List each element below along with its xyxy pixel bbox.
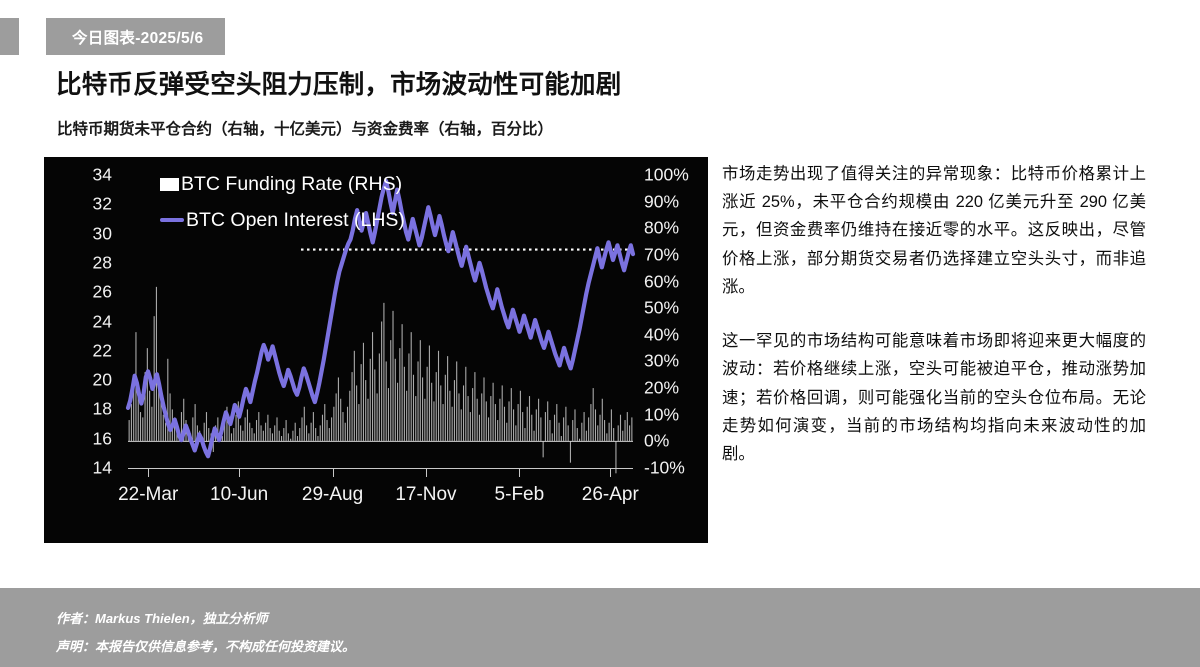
y-tick-left-10: 14 [93,459,112,477]
x-tick-label-1: 10-Jun [210,484,268,506]
legend-label-funding-rate: BTC Funding Rate (RHS) [181,173,402,196]
y-tick-left-0: 34 [93,166,112,184]
y-axis-left: 3432302826242220181614 [52,157,116,543]
footer-disclaimer: 声明：本报告仅供信息参考，不构成任何投资建议。 [56,636,355,655]
y-tick-right-3: 70% [644,246,679,264]
y-tick-right-8: 20% [644,379,679,397]
y-tick-left-4: 26 [93,283,112,301]
x-tick-label-3: 17-Nov [395,484,456,506]
x-tick-label-5: 26-Apr [582,484,639,506]
y-tick-right-5: 50% [644,299,679,317]
footer-band: 作者：Markus Thielen，独立分析师 声明：本报告仅供信息参考，不构成… [0,588,1200,667]
x-tick-mark-2 [333,468,334,477]
legend-item-funding-rate: BTC Funding Rate (RHS) [160,169,405,199]
legend-item-open-interest: BTC Open Interest (LHS) [160,205,405,235]
y-tick-left-2: 30 [93,225,112,243]
chart-panel: 3432302826242220181614 100%90%80%70%60%5… [44,157,708,543]
legend-label-open-interest: BTC Open Interest (LHS) [186,209,405,232]
x-tick-mark-5 [610,468,611,477]
bar-swatch-icon [160,178,179,191]
footer-author: 作者：Markus Thielen，独立分析师 [56,608,268,627]
y-tick-left-3: 28 [93,254,112,272]
line-swatch-icon [160,218,184,222]
x-axis: 22-Mar10-Jun29-Aug17-Nov5-Feb26-Apr [128,468,633,538]
y-tick-left-7: 20 [93,371,112,389]
y-tick-right-6: 40% [644,326,679,344]
left-accent-bar [0,18,19,55]
y-tick-right-9: 10% [644,406,679,424]
x-tick-label-2: 29-Aug [302,484,363,506]
x-axis-line [128,468,633,469]
x-tick-mark-4 [519,468,520,477]
x-tick-mark-1 [239,468,240,477]
chart-legend: BTC Funding Rate (RHS) BTC Open Interest… [160,169,405,241]
x-tick-label-4: 5-Feb [495,484,545,506]
chart-subtitle: 比特币期货未平仓合约（右轴，十亿美元）与资金费率（右轴，百分比） [57,117,553,139]
y-tick-left-8: 18 [93,401,112,419]
y-tick-left-1: 32 [93,196,112,214]
y-tick-left-5: 24 [93,313,112,331]
y-tick-left-6: 22 [93,342,112,360]
slide-root: 今日图表-2025/5/6 比特币反弹受空头阻力压制，市场波动性可能加剧 比特币… [0,0,1200,667]
y-tick-left-9: 16 [93,430,112,448]
y-tick-right-1: 90% [644,193,679,211]
commentary-paragraph-2: 这一罕见的市场结构可能意味着市场即将迎来更大幅度的波动：若价格继续上涨，空头可能… [722,327,1146,468]
y-tick-right-4: 60% [644,273,679,291]
y-axis-right: 100%90%80%70%60%50%40%30%20%10%0%-10% [638,157,708,543]
y-tick-right-11: -10% [644,459,685,477]
x-tick-mark-3 [426,468,427,477]
y-tick-right-7: 30% [644,353,679,371]
commentary-paragraph-1: 市场走势出现了值得关注的异常现象：比特币价格累计上涨近 25%，未平仓合约规模由… [722,160,1146,301]
page-title: 比特币反弹受空头阻力压制，市场波动性可能加剧 [56,64,621,101]
y-tick-right-0: 100% [644,166,689,184]
y-tick-right-2: 80% [644,220,679,238]
date-badge: 今日图表-2025/5/6 [46,18,225,55]
x-tick-mark-0 [148,468,149,477]
y-tick-right-10: 0% [644,433,669,451]
commentary-column: 市场走势出现了值得关注的异常现象：比特币价格累计上涨近 25%，未平仓合约规模由… [722,160,1146,494]
x-tick-label-0: 22-Mar [118,484,178,506]
